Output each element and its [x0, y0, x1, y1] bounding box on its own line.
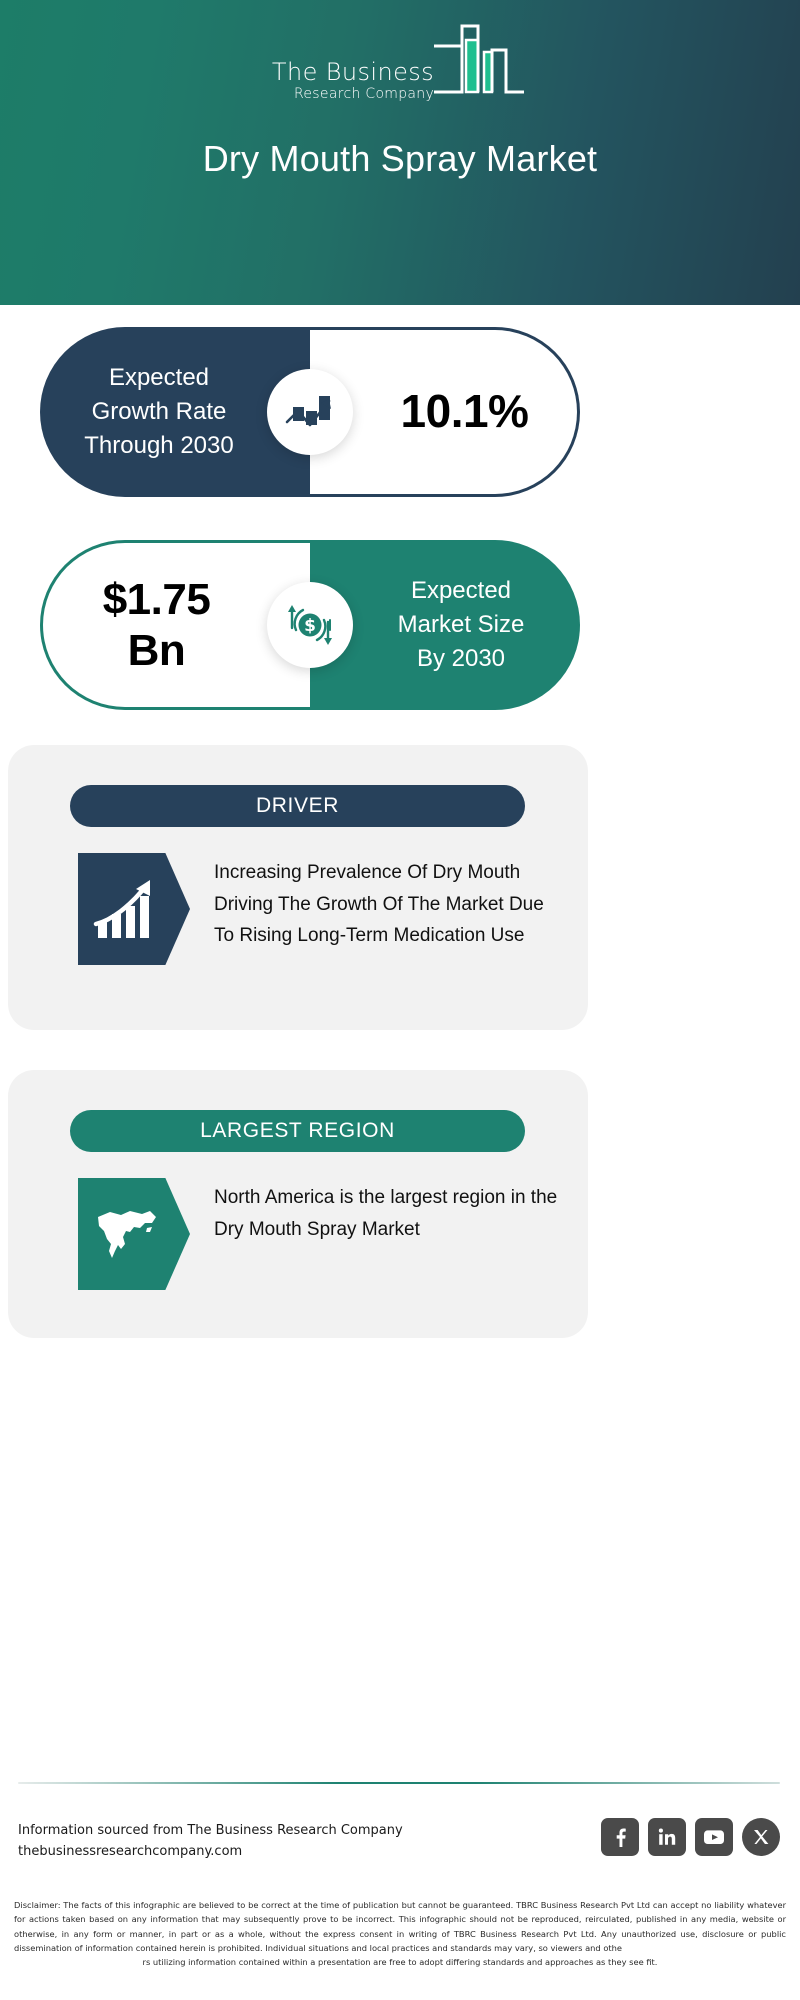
disclaimer-main: Disclaimer: The facts of this infographi…: [14, 1900, 786, 1953]
footer-source-line-1: Information sourced from The Business Re…: [18, 1820, 403, 1841]
north-america-map-icon: [78, 1178, 190, 1290]
stat-label-line-2: Market Size: [398, 611, 525, 638]
footer-source: Information sourced from The Business Re…: [18, 1820, 403, 1862]
stat-card-market-size: $1.75 Bn Expected Market Size By 2030 $: [40, 540, 580, 710]
stat-label-line-2: Growth Rate: [92, 398, 227, 425]
svg-text:$: $: [304, 616, 316, 636]
youtube-icon[interactable]: [695, 1818, 733, 1856]
driver-heading: DRIVER: [70, 785, 525, 827]
driver-panel: DRIVER Increasing Prevalence Of Dry Mout…: [8, 745, 588, 1030]
page-title: Dry Mouth Spray Market: [0, 138, 800, 180]
stat-label-text: Expected Growth Rate Through 2030: [70, 361, 279, 463]
driver-body: Increasing Prevalence Of Dry Mouth Drivi…: [78, 853, 558, 965]
largest-region-body: North America is the largest region in t…: [78, 1178, 558, 1290]
footer-website-link[interactable]: thebusinessresearchcompany.com: [18, 1841, 403, 1862]
disclaimer-text: Disclaimer: The facts of this infographi…: [14, 1898, 786, 1969]
social-links: [601, 1818, 780, 1856]
logo-primary-text: The Business: [272, 60, 434, 85]
disclaimer-last-line: rs utilizing information contained withi…: [14, 1955, 786, 1969]
stat-card-growth-rate: Expected Growth Rate Through 2030 10.1%: [40, 327, 580, 497]
x-twitter-icon[interactable]: [742, 1818, 780, 1856]
growth-rate-value: 10.1%: [359, 385, 529, 438]
market-size-value: $1.75 Bn: [103, 574, 251, 676]
largest-region-text: North America is the largest region in t…: [214, 1178, 558, 1245]
growth-bar-chart-arrow-icon: [267, 369, 353, 455]
linkedin-icon[interactable]: [648, 1818, 686, 1856]
stat-label-text: Expected Market Size By 2030: [352, 574, 539, 676]
stat-label-line-3: By 2030: [417, 645, 505, 672]
logo-secondary-text: Research Company: [294, 85, 434, 103]
bar-chart-logo-mark: [432, 22, 528, 105]
driver-text: Increasing Prevalence Of Dry Mouth Drivi…: [214, 853, 558, 952]
company-logo: The Business Research Company: [0, 22, 800, 107]
largest-region-heading: LARGEST REGION: [70, 1110, 525, 1152]
dollar-circular-arrows-icon: $: [267, 582, 353, 668]
footer-divider: [18, 1782, 780, 1784]
market-size-amount: $1.75: [103, 575, 211, 624]
stat-label-line-3: Through 2030: [84, 432, 233, 459]
infographic-page: The Business Research Company Dry: [0, 0, 800, 2000]
stat-label-line-1: Expected: [411, 577, 511, 604]
header-banner: The Business Research Company Dry: [0, 0, 800, 305]
rising-bar-chart-arrow-icon: [78, 853, 190, 965]
facebook-icon[interactable]: [601, 1818, 639, 1856]
market-size-unit: Bn: [128, 626, 186, 675]
stat-label-line-1: Expected: [109, 364, 209, 391]
largest-region-panel: LARGEST REGION North America is the larg…: [8, 1070, 588, 1338]
